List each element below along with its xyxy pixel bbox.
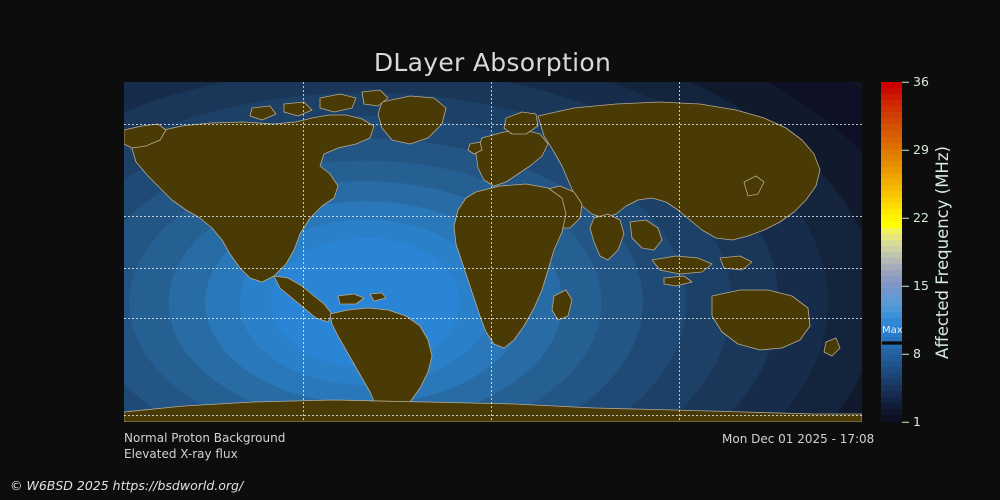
colorbar-tick-mark: [902, 218, 909, 219]
colorbar-tick-label: 22: [913, 212, 929, 225]
colorbar-tick-mark: [902, 82, 909, 83]
colorbar-tick: 22: [902, 212, 929, 225]
dlayer-absorption-page: DLayer Absorption: [0, 0, 1000, 500]
colorbar-tick-mark: [902, 150, 909, 151]
colorbar-axis-label: Affected Frequency (MHz): [930, 82, 954, 422]
max-arrow-icon: [882, 339, 913, 347]
colorbar-tick: 15: [902, 280, 929, 293]
colorbar-tick: 36: [902, 76, 929, 89]
colorbar-tick-mark: [902, 422, 909, 423]
colorbar-tick: 29: [902, 144, 929, 157]
copyright-notice: © W6BSD 2025 https://bsdworld.org/: [10, 478, 243, 493]
colorbar-segment: [881, 415, 902, 421]
world-map[interactable]: [124, 82, 862, 422]
note-xray-flux: Elevated X-ray flux: [124, 446, 285, 462]
continents: [124, 82, 862, 422]
colorbar-max-marker: Max: [881, 326, 921, 352]
status-notes: Normal Proton Background Elevated X-ray …: [124, 430, 285, 462]
colorbar-tick-mark: [902, 354, 909, 355]
colorbar-tick-label: 1: [913, 416, 921, 429]
page-title: DLayer Absorption: [0, 48, 985, 77]
colorbar-tick: 1: [902, 416, 921, 429]
colorbar-tick-mark: [902, 286, 909, 287]
note-proton-background: Normal Proton Background: [124, 430, 285, 446]
max-marker-label: Max: [882, 326, 903, 336]
colorbar-axis-label-text: Affected Frequency (MHz): [933, 146, 952, 359]
colorbar-tick-label: 36: [913, 76, 929, 89]
colorbar[interactable]: [881, 82, 902, 422]
colorbar-tick-label: 15: [913, 280, 929, 293]
colorbar-tick-label: 29: [913, 144, 929, 157]
timestamp: Mon Dec 01 2025 - 17:08: [722, 432, 874, 446]
